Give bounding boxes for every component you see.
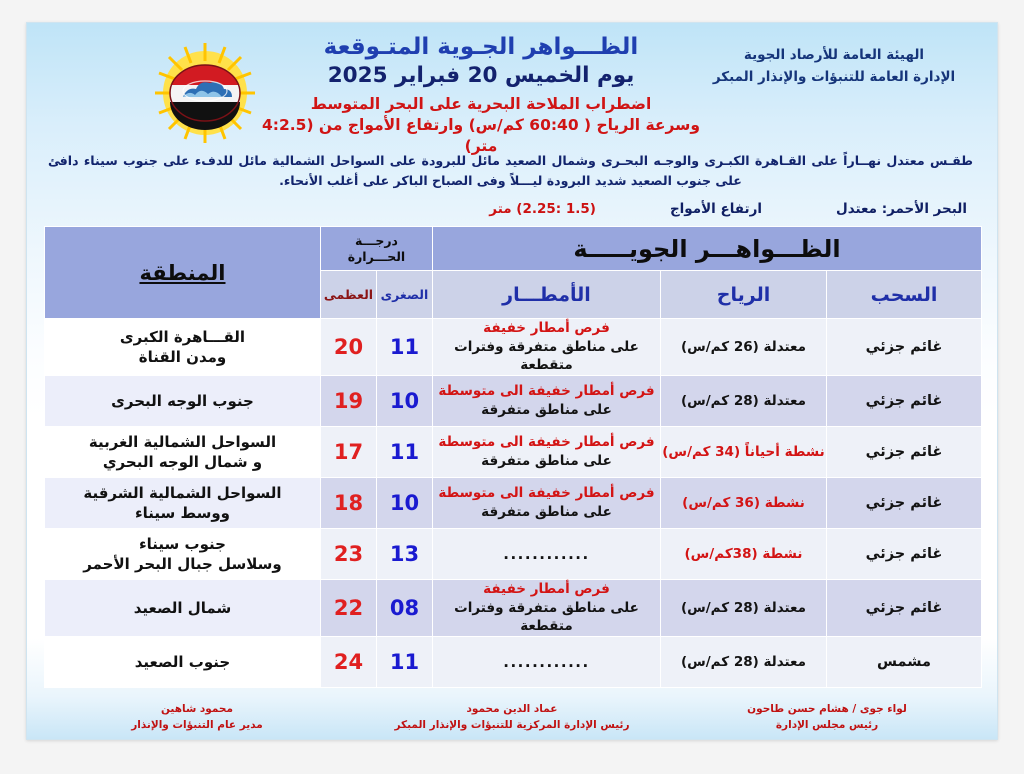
signature-name: لواء جوى / هشام حسن طاحون xyxy=(677,701,977,717)
cell-max-temp: 23 xyxy=(320,528,376,579)
table-row: غائم جزئينشطة (36 كم/س)فرص أمطار خفيفة ا… xyxy=(45,477,982,528)
cell-wind: معتدلة (28 كم/س) xyxy=(661,579,827,636)
cell-clouds: مشمس xyxy=(827,636,982,687)
region-line-2: ووسط سيناء xyxy=(45,503,320,523)
cell-rain: فرص أمطار خفيفة الى متوسطةعلى مناطق متفر… xyxy=(432,477,660,528)
agency-line-2: الإدارة العامة للتنبؤات والإنذار المبكر xyxy=(689,67,979,89)
rain-line-2: على مناطق متفرقة وفترات متقطعة xyxy=(433,338,660,375)
column-header-wind: الرياح xyxy=(661,271,827,319)
group-header-temperature: درجـــة الحـــرارة xyxy=(320,227,432,271)
cell-rain: فرص أمطار خفيفة الى متوسطةعلى مناطق متفر… xyxy=(432,375,660,426)
cell-wind: نشطة (36 كم/س) xyxy=(661,477,827,528)
cell-max-temp: 19 xyxy=(320,375,376,426)
title-block: الظـــواهر الجـوية المتـوقعة يوم الخميس … xyxy=(261,33,701,157)
cell-region: السواحل الشمالية الشرقيةووسط سيناء xyxy=(45,477,321,528)
cell-clouds: غائم جزئي xyxy=(827,528,982,579)
cell-region: جنوب سيناءوسلاسل جبال البحر الأحمر xyxy=(45,528,321,579)
region-line-1: السواحل الشمالية الشرقية xyxy=(45,483,320,503)
signature-name: محمود شاهين xyxy=(47,701,347,717)
cell-region: القـــاهرة الكبرىومدن القناة xyxy=(45,319,321,376)
rain-placeholder-dots: ............ xyxy=(503,653,589,671)
signature-role: مدير عام التنبؤات والإنذار xyxy=(47,717,347,733)
signature-role: رئيس الإدارة المركزية للتنبؤات والإنذار … xyxy=(362,717,662,733)
rain-line-1: فرص أمطار خفيفة xyxy=(433,580,660,599)
rain-line-1: فرص أمطار خفيفة الى متوسطة xyxy=(433,484,660,503)
table-row: غائم جزئيمعتدلة (26 كم/س)فرص أمطار خفيفة… xyxy=(45,319,982,376)
cell-wind: معتدلة (28 كم/س) xyxy=(661,636,827,687)
rain-line-2: على مناطق متفرقة xyxy=(433,452,660,471)
rain-line-1: فرص أمطار خفيفة الى متوسطة xyxy=(433,382,660,401)
signature-board-chairman: لواء جوى / هشام حسن طاحون رئيس مجلس الإد… xyxy=(677,701,977,734)
cell-clouds: غائم جزئي xyxy=(827,426,982,477)
cell-min-temp: 13 xyxy=(376,528,432,579)
signature-central-department-head: عماد الدين محمود رئيس الإدارة المركزية ل… xyxy=(362,701,662,734)
cell-max-temp: 22 xyxy=(320,579,376,636)
cell-min-temp: 10 xyxy=(376,477,432,528)
screenshot-root: الهيئة العامة للأرصاد الجوية الإدارة الع… xyxy=(0,0,1024,774)
forecast-summary-paragraph: طقـس معتدل نهــاراً على القـاهرة الكبـرى… xyxy=(48,151,973,192)
cell-rain: ............ xyxy=(432,528,660,579)
cell-region: شمال الصعيد xyxy=(45,579,321,636)
forecast-table: الظـــواهـــر الجويـــــة درجـــة الحـــ… xyxy=(44,226,982,688)
cell-rain: فرص أمطار خفيفة الى متوسطةعلى مناطق متفر… xyxy=(432,426,660,477)
cell-wind: معتدلة (28 كم/س) xyxy=(661,375,827,426)
signature-name: عماد الدين محمود xyxy=(362,701,662,717)
cell-min-temp: 11 xyxy=(376,426,432,477)
cell-clouds: غائم جزئي xyxy=(827,375,982,426)
agency-line-1: الهيئة العامة للأرصاد الجوية xyxy=(689,45,979,67)
cell-max-temp: 24 xyxy=(320,636,376,687)
signature-forecast-director: محمود شاهين مدير عام التنبؤات والإنذار xyxy=(47,701,347,734)
cell-wind: معتدلة (26 كم/س) xyxy=(661,319,827,376)
cell-rain: فرص أمطار خفيفةعلى مناطق متفرقة وفترات م… xyxy=(432,319,660,376)
forecast-table-wrapper: الظـــواهـــر الجويـــــة درجـــة الحـــ… xyxy=(44,226,982,688)
wave-height-label: ارتفاع الأمواج xyxy=(670,201,762,217)
rain-line-1: فرص أمطار خفيفة الى متوسطة xyxy=(433,433,660,452)
cell-min-temp: 10 xyxy=(376,375,432,426)
cell-max-temp: 17 xyxy=(320,426,376,477)
red-sea-label: البحر الأحمر: معتدل xyxy=(836,201,967,217)
cell-min-temp: 11 xyxy=(376,636,432,687)
cell-region: السواحل الشمالية الغربيةو شمال الوجه الب… xyxy=(45,426,321,477)
cell-region: جنوب الصعيد xyxy=(45,636,321,687)
page-title: الظـــواهر الجـوية المتـوقعة xyxy=(261,33,701,61)
region-line-1: شمال الصعيد xyxy=(45,598,320,618)
table-row: غائم جزئينشطة أحياناً (34 كم/س)فرص أمطار… xyxy=(45,426,982,477)
red-sea-conditions: البحر الأحمر: معتدل ارتفاع الأمواج (1.5 … xyxy=(67,201,967,217)
group-header-phenomena: الظـــواهـــر الجويـــــة xyxy=(432,227,981,271)
cell-clouds: غائم جزئي xyxy=(827,477,982,528)
region-line-1: جنوب سيناء xyxy=(45,534,320,554)
cell-min-temp: 11 xyxy=(376,319,432,376)
egypt-meteorological-authority-logo-icon xyxy=(153,41,257,145)
column-header-max-temp: العظمى xyxy=(320,271,376,319)
table-group-header-row: الظـــواهـــر الجويـــــة درجـــة الحـــ… xyxy=(45,227,982,271)
marine-warning-line-1: اضطراب الملاحة البحرية على البحر المتوسط xyxy=(261,94,701,115)
column-header-clouds: السحب xyxy=(827,271,982,319)
forecast-card: الهيئة العامة للأرصاد الجوية الإدارة الع… xyxy=(26,22,998,740)
cell-clouds: غائم جزئي xyxy=(827,579,982,636)
cell-rain: فرص أمطار خفيفةعلى مناطق متفرقة وفترات م… xyxy=(432,579,660,636)
rain-line-1: فرص أمطار خفيفة xyxy=(433,319,660,338)
cell-min-temp: 08 xyxy=(376,579,432,636)
table-row: غائم جزئيمعتدلة (28 كم/س)فرص أمطار خفيفة… xyxy=(45,579,982,636)
rain-line-2: على مناطق متفرقة xyxy=(433,503,660,522)
region-line-1: القـــاهرة الكبرى xyxy=(45,327,320,347)
column-header-min-temp: الصغرى xyxy=(376,271,432,319)
cell-rain: ............ xyxy=(432,636,660,687)
rain-placeholder-dots: ............ xyxy=(503,545,589,563)
cell-wind: نشطة (38كم/س) xyxy=(661,528,827,579)
rain-line-2: على مناطق متفرقة xyxy=(433,401,660,420)
region-line-1: جنوب الوجه البحرى xyxy=(45,391,320,411)
forecast-date: يوم الخميس 20 فبراير 2025 xyxy=(261,62,701,90)
rain-line-2: على مناطق متفرقة وفترات متقطعة xyxy=(433,599,660,636)
table-row: غائم جزئينشطة (38كم/س)............1323جن… xyxy=(45,528,982,579)
region-line-2: و شمال الوجه البحري xyxy=(45,452,320,472)
column-header-rain: الأمطـــار xyxy=(432,271,660,319)
signature-role: رئيس مجلس الإدارة xyxy=(677,717,977,733)
cell-wind: نشطة أحياناً (34 كم/س) xyxy=(661,426,827,477)
group-header-temperature-line-2: الحـــرارة xyxy=(348,249,405,264)
cell-clouds: غائم جزئي xyxy=(827,319,982,376)
region-line-2: ومدن القناة xyxy=(45,347,320,367)
agency-name: الهيئة العامة للأرصاد الجوية الإدارة الع… xyxy=(689,45,979,89)
wave-height-value: (1.5 :2.25) متر xyxy=(489,201,596,217)
region-line-2: وسلاسل جبال البحر الأحمر xyxy=(45,554,320,574)
group-header-region: المنطقة xyxy=(45,227,321,319)
footer-signatures: محمود شاهين مدير عام التنبؤات والإنذار ع… xyxy=(47,701,977,734)
table-row: غائم جزئيمعتدلة (28 كم/س)فرص أمطار خفيفة… xyxy=(45,375,982,426)
region-line-1: السواحل الشمالية الغربية xyxy=(45,432,320,452)
cell-max-temp: 18 xyxy=(320,477,376,528)
card-header: الهيئة العامة للأرصاد الجوية الإدارة الع… xyxy=(27,23,997,201)
cell-region: جنوب الوجه البحرى xyxy=(45,375,321,426)
table-row: مشمسمعتدلة (28 كم/س)............1124جنوب… xyxy=(45,636,982,687)
cell-max-temp: 20 xyxy=(320,319,376,376)
region-line-1: جنوب الصعيد xyxy=(45,652,320,672)
group-header-temperature-line-1: درجـــة xyxy=(355,233,398,248)
